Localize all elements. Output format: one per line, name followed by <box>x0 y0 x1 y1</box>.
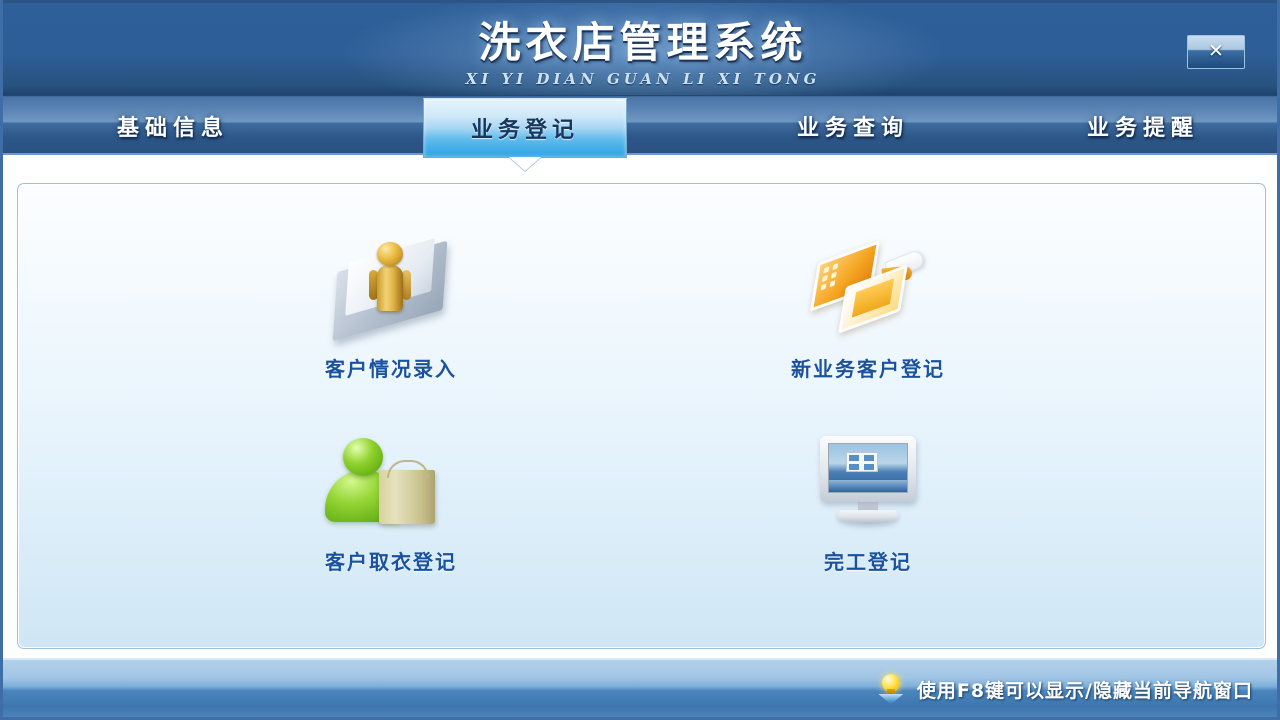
person-with-bag-icon <box>321 432 461 532</box>
status-hint-text: 使用F8键可以显示/隐藏当前导航窗口 <box>917 676 1253 703</box>
monitor-icon <box>798 432 938 532</box>
nav-icon-label: 客户情况录入 <box>325 353 457 382</box>
menu-item-business-reminder[interactable]: 业务提醒 <box>1023 97 1263 155</box>
application-window: 洗衣店管理系统 XI YI DIAN GUAN LI XI TONG ✕ 基础信… <box>0 0 1280 720</box>
nav-icon-label: 新业务客户登记 <box>791 353 945 382</box>
nav-icon-label: 客户取衣登记 <box>325 546 457 575</box>
navigation-content-panel: 客户情况录入 新业务客户登记 客户取衣登记 <box>17 183 1266 649</box>
menu-item-business-query[interactable]: 业务查询 <box>733 97 973 155</box>
main-menu-bar: 基础信息 业务查询 业务提醒 <box>3 97 1280 155</box>
app-title-block: 洗衣店管理系统 XI YI DIAN GUAN LI XI TONG <box>3 17 1280 88</box>
person-on-book-icon <box>321 239 461 339</box>
open-notebook-pen-icon <box>798 239 938 339</box>
active-tab-label: 业务登记 <box>471 112 579 144</box>
nav-icon-completion-registration[interactable]: 完工登记 <box>718 432 1018 602</box>
title-bar: 洗衣店管理系统 XI YI DIAN GUAN LI XI TONG ✕ <box>3 0 1280 97</box>
nav-icon-new-business-customer-registration[interactable]: 新业务客户登记 <box>718 239 1018 409</box>
active-tab-pointer-icon <box>509 157 541 171</box>
menu-item-basic-info[interactable]: 基础信息 <box>53 97 293 155</box>
menu-item-business-registration-active[interactable]: 业务登记 <box>423 98 627 158</box>
status-bar: 使用F8键可以显示/隐藏当前导航窗口 <box>3 658 1280 717</box>
nav-icon-customer-pickup-registration[interactable]: 客户取衣登记 <box>241 432 541 602</box>
close-button[interactable]: ✕ <box>1187 35 1245 69</box>
app-title-pinyin: XI YI DIAN GUAN LI XI TONG <box>3 70 1280 88</box>
status-hint-group: 使用F8键可以显示/隐藏当前导航窗口 <box>877 660 1253 719</box>
nav-icon-label: 完工登记 <box>824 546 912 575</box>
app-title-chinese: 洗衣店管理系统 <box>3 17 1280 69</box>
close-icon: ✕ <box>1208 42 1224 61</box>
nav-icon-customer-info-entry[interactable]: 客户情况录入 <box>241 239 541 409</box>
lightbulb-icon <box>877 674 905 706</box>
